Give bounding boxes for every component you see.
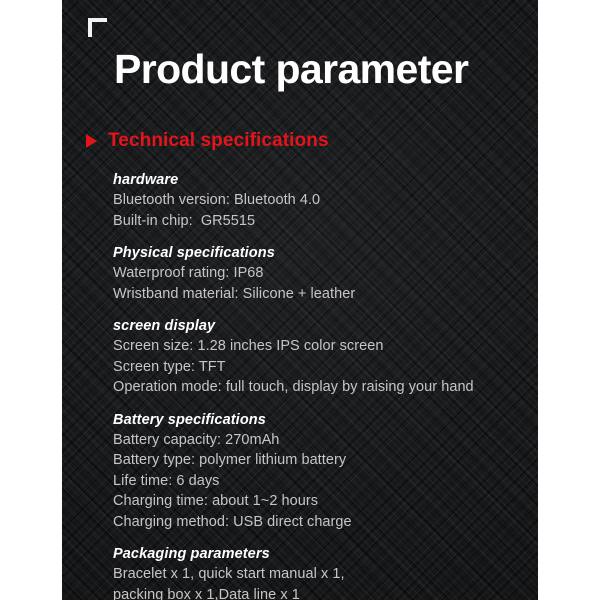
- corner-bracket-icon: [88, 18, 107, 37]
- spec-line: Battery capacity: 270mAh: [113, 430, 533, 451]
- specification-list: hardware Bluetooth version: Bluetooth 4.…: [113, 170, 533, 600]
- spec-group-title: hardware: [113, 170, 533, 190]
- spec-group-packaging-parameters: Packaging parameters Bracelet x 1, quick…: [113, 544, 533, 600]
- technical-specifications-header: Technical specifications: [86, 130, 329, 152]
- spec-group-physical-specifications: Physical specifications Waterproof ratin…: [113, 243, 533, 304]
- spec-line: Operation mode: full touch, display by r…: [113, 377, 533, 398]
- technical-specifications-label: Technical specifications: [108, 130, 329, 152]
- spec-line: Screen size: 1.28 inches IPS color scree…: [113, 336, 533, 357]
- spec-line: Charging method: USB direct charge: [113, 512, 533, 533]
- spec-group-battery-specifications: Battery specifications Battery capacity:…: [113, 410, 533, 533]
- spec-line: Life time: 6 days: [113, 471, 533, 492]
- product-parameter-page: Product parameter Technical specificatio…: [0, 0, 600, 600]
- dark-spec-panel: Product parameter Technical specificatio…: [62, 0, 538, 600]
- triangle-right-icon: [86, 134, 97, 148]
- panel-content: Product parameter Technical specificatio…: [62, 0, 538, 600]
- spec-line: Screen type: TFT: [113, 357, 533, 378]
- spec-line: Bluetooth version: Bluetooth 4.0: [113, 190, 533, 211]
- spec-line: Wristband material: Silicone + leather: [113, 284, 533, 305]
- spec-group-title: Packaging parameters: [113, 544, 533, 564]
- spec-group-title: screen display: [113, 316, 533, 336]
- spec-group-screen-display: screen display Screen size: 1.28 inches …: [113, 316, 533, 398]
- spec-line: packing box x 1,Data line x 1: [113, 585, 533, 600]
- spec-line: Waterproof rating: IP68: [113, 263, 533, 284]
- spec-line: Bracelet x 1, quick start manual x 1,: [113, 564, 533, 585]
- spec-line: Built-in chip: GR5515: [113, 211, 533, 232]
- spec-group-hardware: hardware Bluetooth version: Bluetooth 4.…: [113, 170, 533, 231]
- page-title: Product parameter: [114, 44, 468, 94]
- spec-line: Battery type: polymer lithium battery: [113, 450, 533, 471]
- spec-group-title: Battery specifications: [113, 410, 533, 430]
- spec-group-title: Physical specifications: [113, 243, 533, 263]
- spec-line: Charging time: about 1~2 hours: [113, 491, 533, 512]
